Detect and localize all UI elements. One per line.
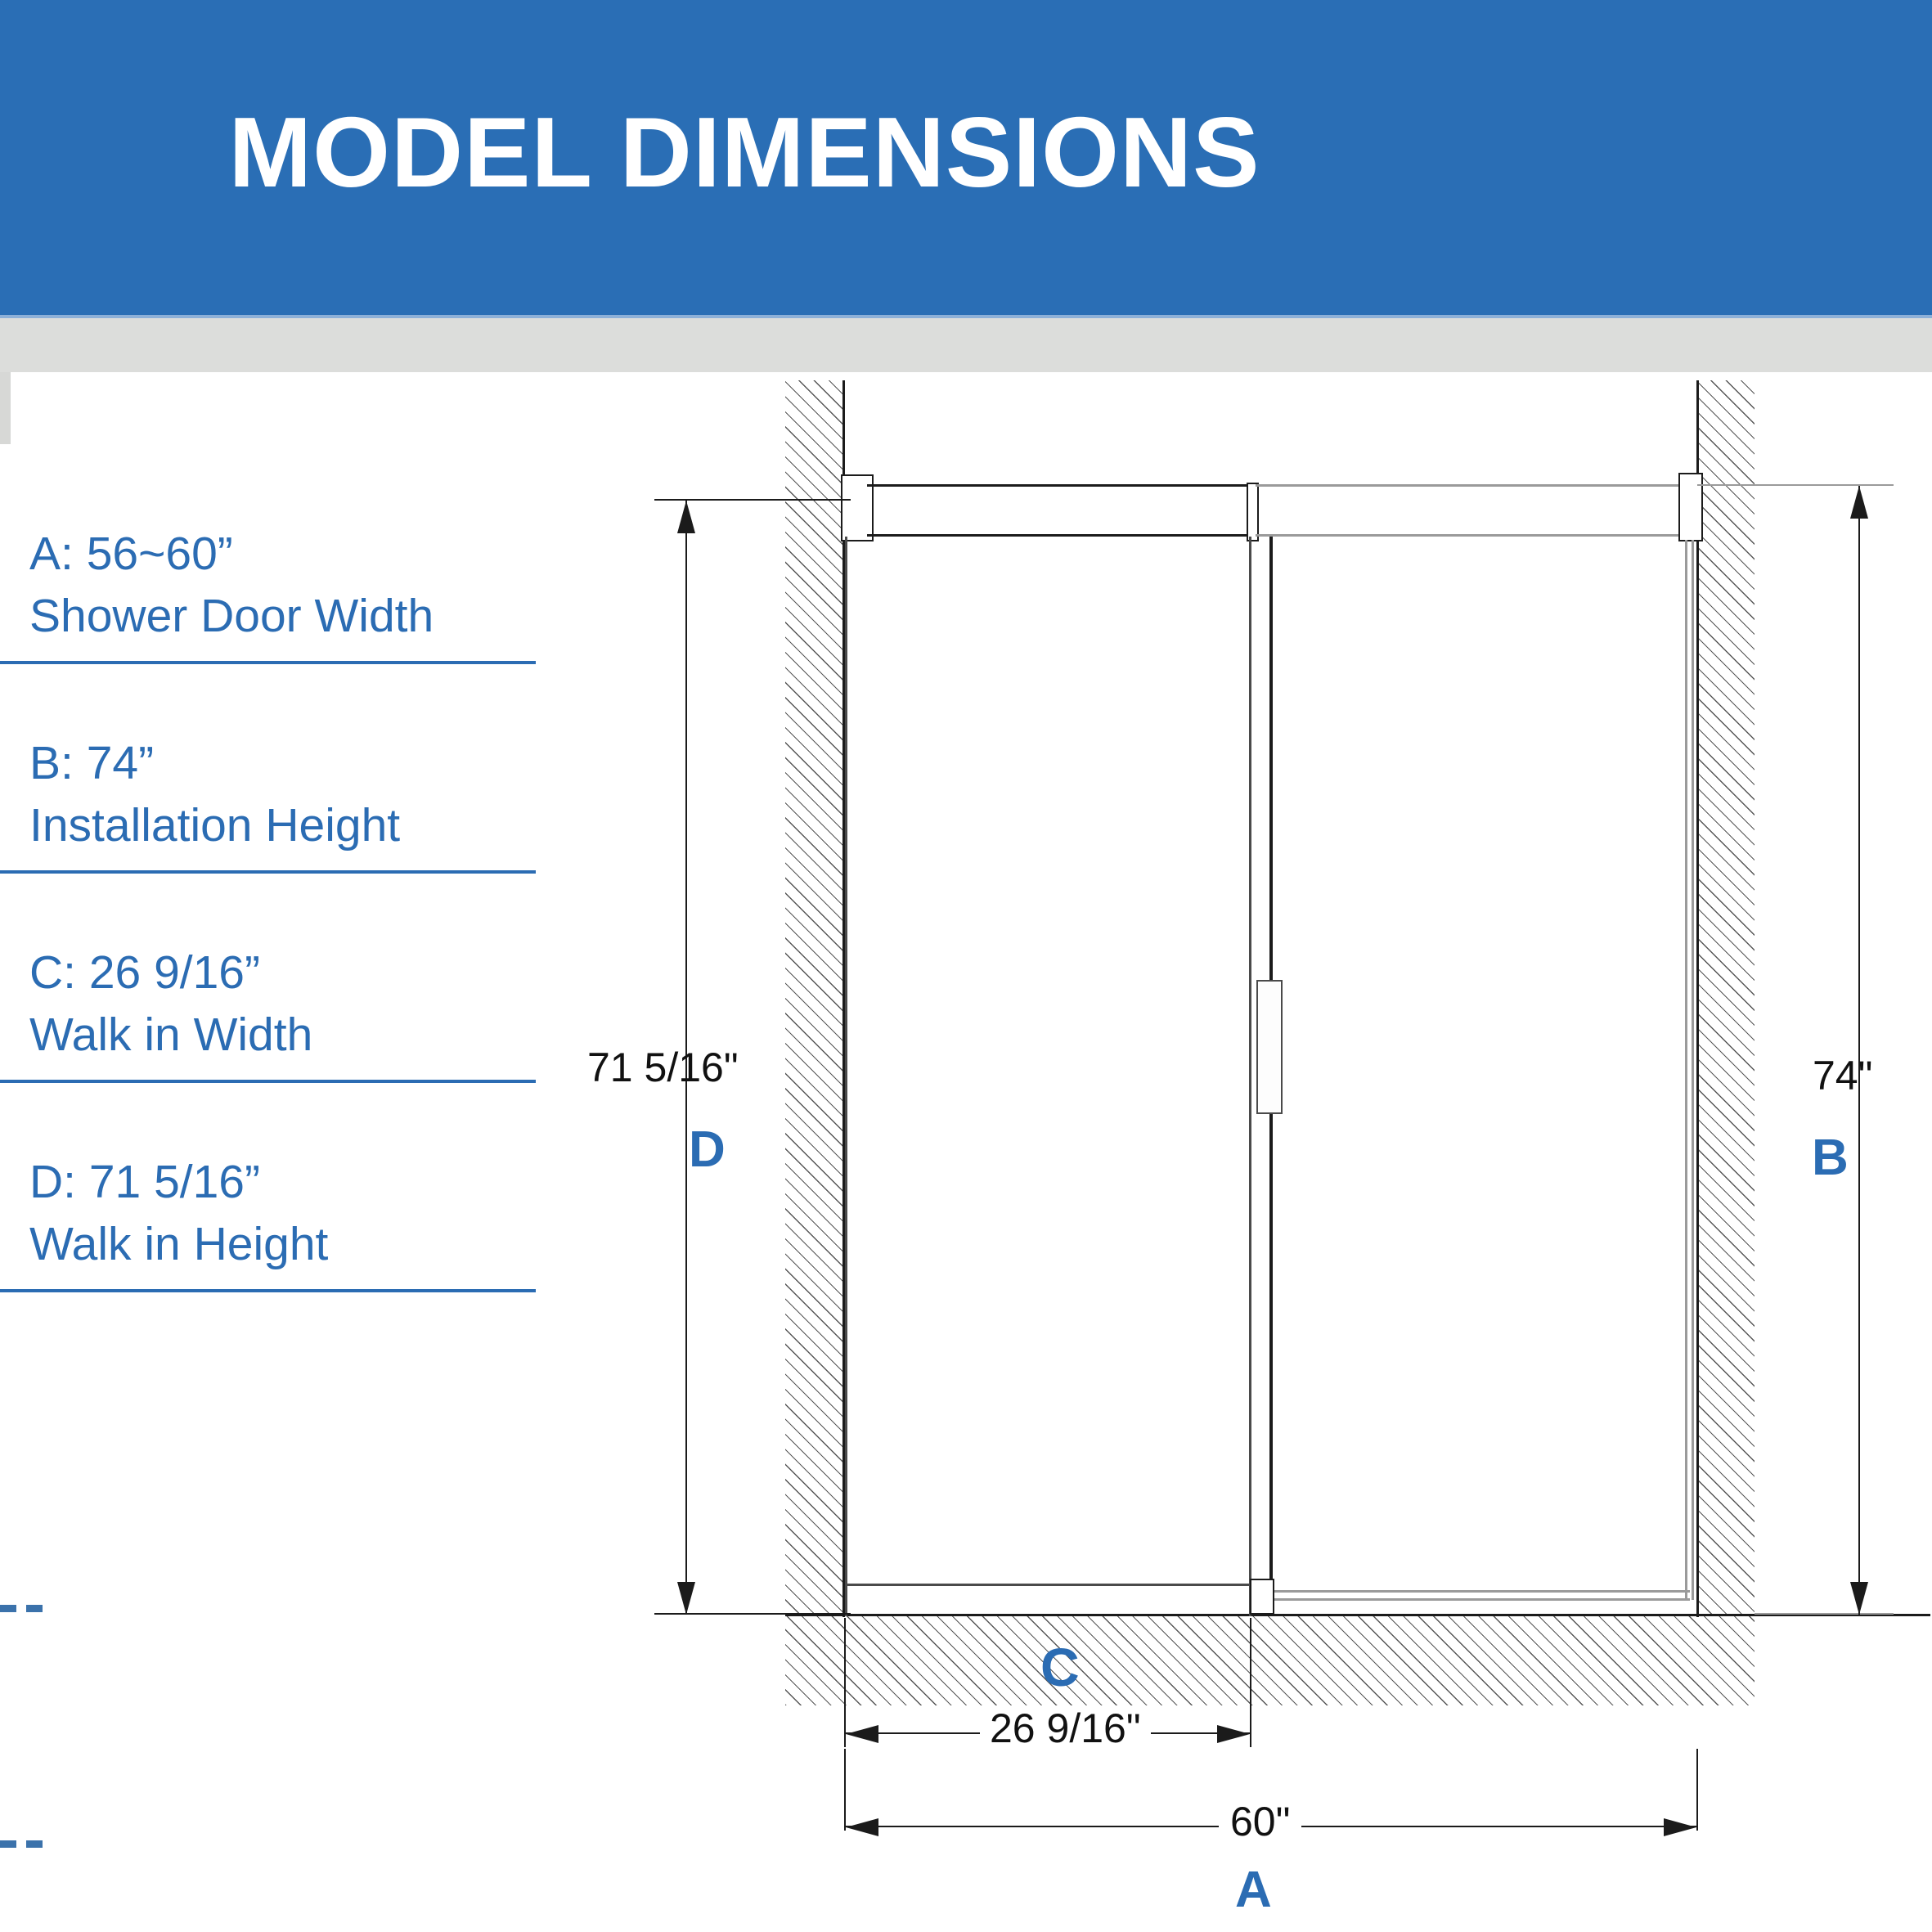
dim-d-value: 71 5/16" (587, 1047, 739, 1088)
dim-c-arrow-left (846, 1725, 878, 1743)
sliding-panel-bottom-rail (1273, 1590, 1690, 1593)
dim-d-extension-bottom (654, 1613, 851, 1615)
dim-d-arrow-top (677, 501, 695, 533)
wall-left-hatch (785, 380, 844, 1615)
sliding-panel-left-edge (1269, 537, 1273, 1600)
dim-b-letter: B (1812, 1133, 1849, 1184)
legend-code-a: A: 56~60” (0, 523, 540, 584)
dim-d-letter: D (689, 1125, 726, 1175)
dim-a-line (846, 1826, 1696, 1827)
dim-b-extension-bottom (1755, 1613, 1894, 1615)
door-handle[interactable] (1256, 980, 1283, 1114)
dim-b-arrow-top (1850, 486, 1868, 519)
legend-desc-b: Installation Height (0, 793, 540, 857)
sliding-panel-right-edge-outer (1692, 540, 1694, 1600)
dim-b-value: 74" (1813, 1055, 1872, 1096)
dim-b-arrow-bottom (1850, 1582, 1868, 1615)
edge-tick-mark-4 (26, 1840, 43, 1848)
dim-d-extension-top (654, 499, 851, 501)
dim-a-letter: A (1235, 1865, 1272, 1916)
edge-tick-mark-3 (0, 1840, 16, 1848)
floor-top-edge (785, 1614, 1930, 1616)
sliding-panel-bottom-rail-2 (1273, 1598, 1690, 1601)
dim-c-line (846, 1732, 1250, 1734)
edge-tick-mark-1 (0, 1605, 16, 1612)
rail-right-end-cap (1678, 473, 1703, 541)
rail-center-connector (1247, 483, 1259, 541)
wall-right-inner-edge (1696, 380, 1699, 1617)
floor-hatch (785, 1615, 1755, 1705)
wall-right-hatch (1697, 380, 1755, 1615)
fixed-panel-left-edge (845, 537, 847, 1616)
legend-item-d: D: 71 5/16” Walk in Height (0, 1152, 540, 1276)
wall-left-inner-edge (842, 380, 845, 1617)
legend-desc-c: Walk in Width (0, 1003, 540, 1067)
panel-bottom-connector (1250, 1579, 1274, 1615)
legend-divider-d (0, 1289, 536, 1292)
legend-item-a: A: 56~60” Shower Door Width (0, 523, 540, 648)
legend-desc-d: Walk in Height (0, 1212, 540, 1276)
fixed-panel-bottom-rail (847, 1584, 1251, 1586)
gray-separator-band (0, 318, 1932, 372)
sliding-panel-right-edge (1685, 540, 1687, 1600)
legend-code-b: B: 74” (0, 733, 540, 793)
legend-divider-a (0, 661, 536, 664)
left-edge-tab (0, 372, 11, 444)
legend-item-c: C: 26 9/16” Walk in Width (0, 942, 540, 1067)
rail-left-top-line (867, 484, 1249, 487)
fixed-panel-right-edge (1249, 537, 1251, 1616)
dim-a-extension-left (844, 1749, 846, 1831)
legend-code-c: C: 26 9/16” (0, 942, 540, 1003)
dim-c-extension-right (1250, 1618, 1251, 1747)
legend-divider-c (0, 1080, 536, 1083)
rail-left-end-cap (841, 474, 874, 541)
dim-c-arrow-right (1217, 1725, 1250, 1743)
dim-b-line (1858, 486, 1860, 1615)
model-dimensions-page: MODEL DIMENSIONS A: 56~60” Shower Door W… (0, 0, 1932, 1932)
dim-c-value: 26 9/16" (980, 1708, 1151, 1749)
dim-a-value: 60" (1219, 1801, 1301, 1842)
dim-c-extension-left (844, 1618, 846, 1747)
legend-divider-b (0, 870, 536, 874)
rail-right-top-line (1256, 484, 1689, 487)
legend-code-d: D: 71 5/16” (0, 1152, 540, 1212)
rail-right-bottom-line (1256, 534, 1689, 537)
rail-left-bottom-line (867, 534, 1249, 537)
legend-item-b: B: 74” Installation Height (0, 733, 540, 857)
dim-a-arrow-left (846, 1818, 878, 1836)
dim-a-arrow-right (1664, 1818, 1696, 1836)
dim-d-line (685, 501, 687, 1615)
dimension-legend-list: A: 56~60” Shower Door Width B: 74” Insta… (0, 523, 540, 1361)
legend-desc-a: Shower Door Width (0, 584, 540, 648)
dim-a-extension-right (1696, 1749, 1698, 1831)
dim-b-extension-top (1697, 484, 1894, 486)
dim-d-arrow-bottom (677, 1582, 695, 1615)
edge-tick-mark-2 (26, 1605, 43, 1612)
dim-c-letter: C (1040, 1640, 1080, 1694)
page-title: MODEL DIMENSIONS (0, 102, 1489, 202)
